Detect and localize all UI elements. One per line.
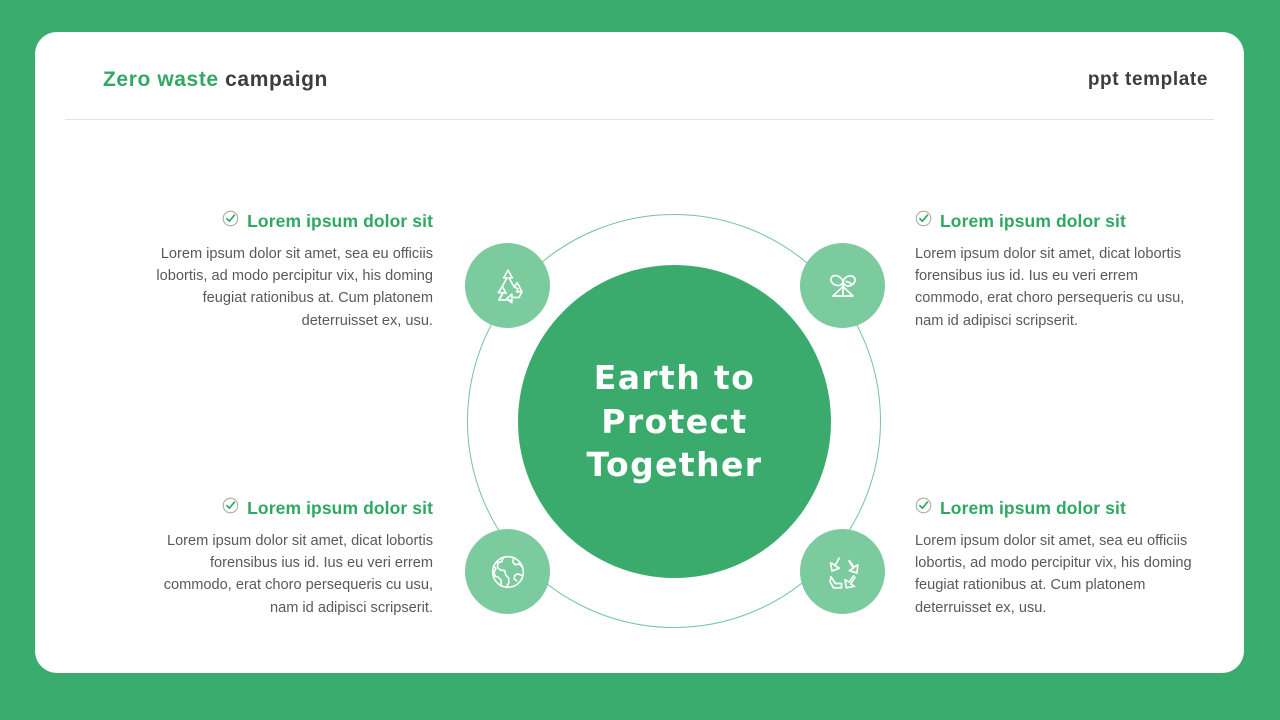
header-template-label: ppt template <box>1088 69 1208 91</box>
check-circle-icon <box>915 497 932 519</box>
text-block-bottom-right: Lorem ipsum dolor sit Lorem ipsum dolor … <box>915 497 1205 619</box>
text-block-heading: Lorem ipsum dolor sit <box>915 497 1205 519</box>
text-block-title: Lorem ipsum dolor sit <box>247 211 433 232</box>
recycle-arrows-icon <box>820 549 866 595</box>
header-title-dark: campaign <box>225 68 328 91</box>
bubble-bottom-left[interactable] <box>465 529 550 614</box>
text-block-body: Lorem ipsum dolor sit amet, sea eu offic… <box>143 243 433 332</box>
slide-card: Zero waste campaign ppt template Earth t… <box>35 32 1244 673</box>
text-block-body: Lorem ipsum dolor sit amet, sea eu offic… <box>915 530 1205 619</box>
text-block-top-right: Lorem ipsum dolor sit Lorem ipsum dolor … <box>915 210 1205 332</box>
center-circle: Earth to Protect Together <box>518 265 831 578</box>
check-circle-icon <box>222 210 239 232</box>
bubble-top-right[interactable] <box>800 243 885 328</box>
globe-icon <box>485 549 531 595</box>
center-label: Earth to Protect Together <box>587 356 763 487</box>
check-circle-icon <box>222 497 239 519</box>
recycle-triangle-icon <box>485 263 531 309</box>
text-block-heading: Lorem ipsum dolor sit <box>143 210 433 232</box>
text-block-bottom-left: Lorem ipsum dolor sit Lorem ipsum dolor … <box>143 497 433 619</box>
sprout-icon <box>819 262 867 310</box>
check-circle-icon <box>915 210 932 232</box>
bubble-top-left[interactable] <box>465 243 550 328</box>
text-block-body: Lorem ipsum dolor sit amet, dicat lobort… <box>915 243 1205 332</box>
text-block-top-left: Lorem ipsum dolor sit Lorem ipsum dolor … <box>143 210 433 332</box>
header-title-accent: Zero waste <box>103 68 219 91</box>
text-block-title: Lorem ipsum dolor sit <box>940 211 1126 232</box>
slide-header: Zero waste campaign ppt template <box>65 56 1214 120</box>
circular-diagram: Earth to Protect Together <box>435 172 915 672</box>
text-block-heading: Lorem ipsum dolor sit <box>915 210 1205 232</box>
text-block-title: Lorem ipsum dolor sit <box>940 498 1126 519</box>
text-block-title: Lorem ipsum dolor sit <box>247 498 433 519</box>
text-block-body: Lorem ipsum dolor sit amet, dicat lobort… <box>143 530 433 619</box>
text-block-heading: Lorem ipsum dolor sit <box>143 497 433 519</box>
header-title: Zero waste campaign <box>103 68 328 92</box>
bubble-bottom-right[interactable] <box>800 529 885 614</box>
